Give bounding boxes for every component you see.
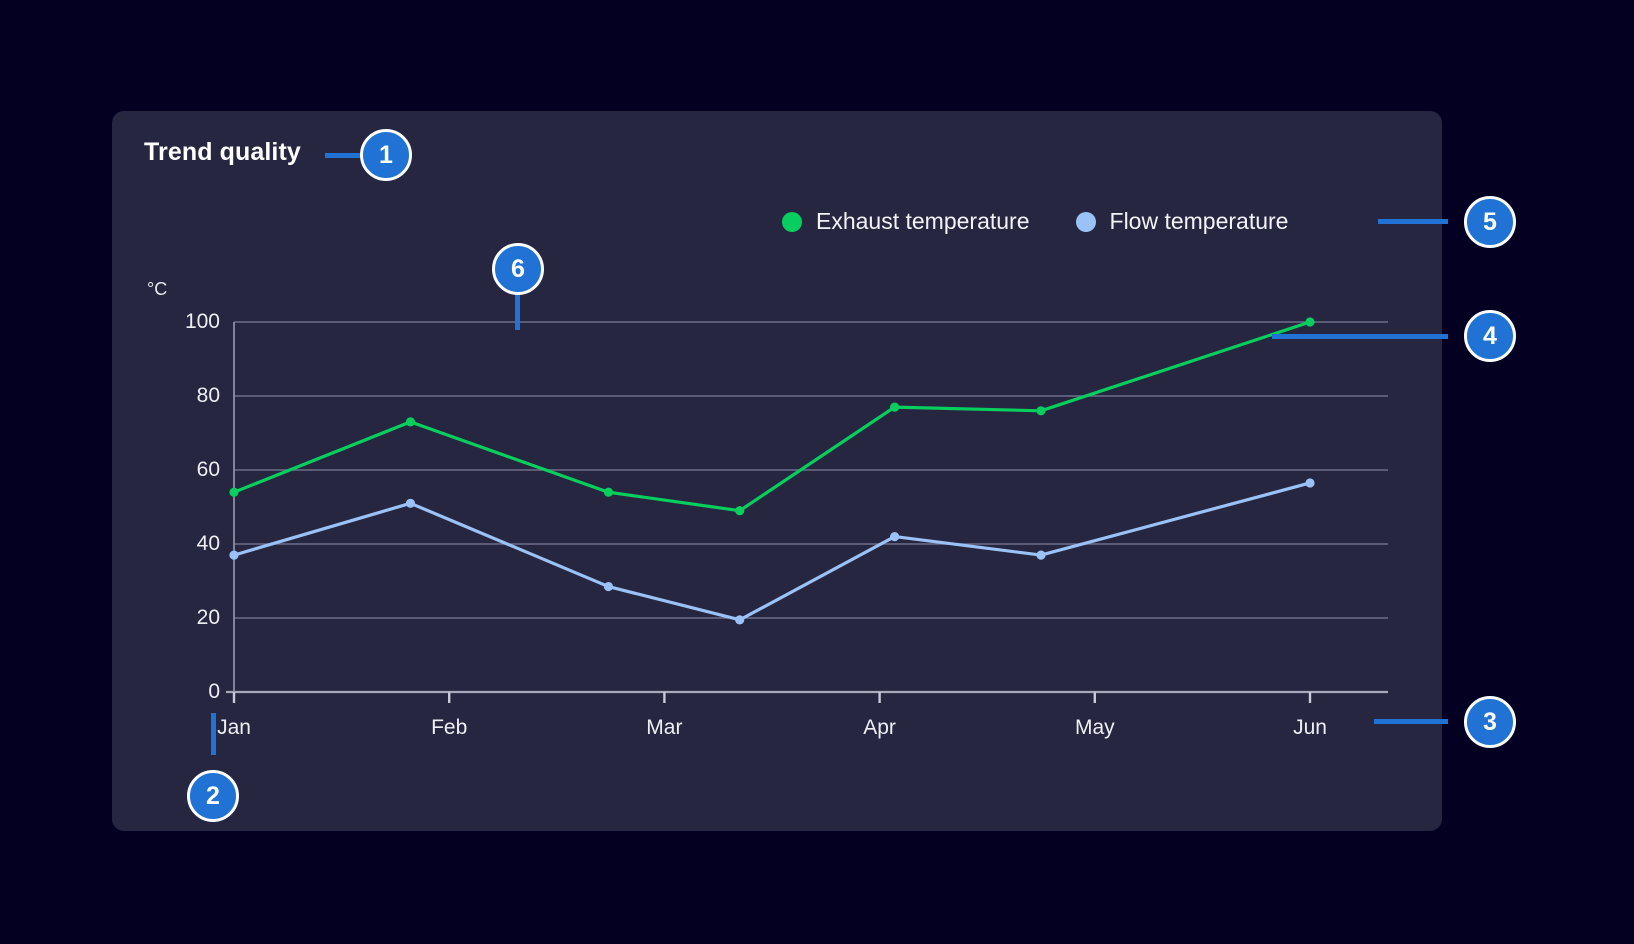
chart-svg [112, 111, 1442, 831]
x-axis-tick-label: Feb [404, 716, 494, 740]
callout-marker-4[interactable]: 4 [1464, 310, 1516, 362]
x-axis-tick-label: May [1050, 716, 1140, 740]
callout-leader-5 [1378, 219, 1448, 224]
x-axis-tick-label: Mar [619, 716, 709, 740]
trend-quality-card: Trend quality Exhaust temperature Flow t… [112, 111, 1442, 831]
y-axis-tick-label: 40 [150, 532, 220, 556]
callout-marker-6[interactable]: 6 [492, 243, 544, 295]
y-axis-tick-label: 80 [150, 384, 220, 408]
chart-gridlines [234, 322, 1388, 618]
y-axis-tick-label: 100 [150, 310, 220, 334]
screenshot-root: Trend quality Exhaust temperature Flow t… [0, 0, 1634, 944]
x-axis-tick-label: Apr [835, 716, 925, 740]
chart-x-tickmarks [234, 692, 1310, 703]
callout-marker-5[interactable]: 5 [1464, 196, 1516, 248]
y-axis-tick-label: 0 [150, 680, 220, 704]
y-axis-tick-label: 60 [150, 458, 220, 482]
callout-marker-2[interactable]: 2 [187, 770, 239, 822]
chart-series-layer [229, 317, 1314, 624]
chart-plot-area: 020406080100 JanFebMarAprMayJun [112, 111, 1442, 831]
callout-marker-1[interactable]: 1 [360, 129, 412, 181]
callout-leader-2 [211, 713, 216, 755]
x-axis-tick-label: Jan [189, 716, 279, 740]
callout-leader-4 [1272, 334, 1448, 339]
x-axis-tick-label: Jun [1265, 716, 1355, 740]
callout-leader-3 [1374, 719, 1448, 724]
callout-marker-3[interactable]: 3 [1464, 696, 1516, 748]
y-axis-tick-label: 20 [150, 606, 220, 630]
